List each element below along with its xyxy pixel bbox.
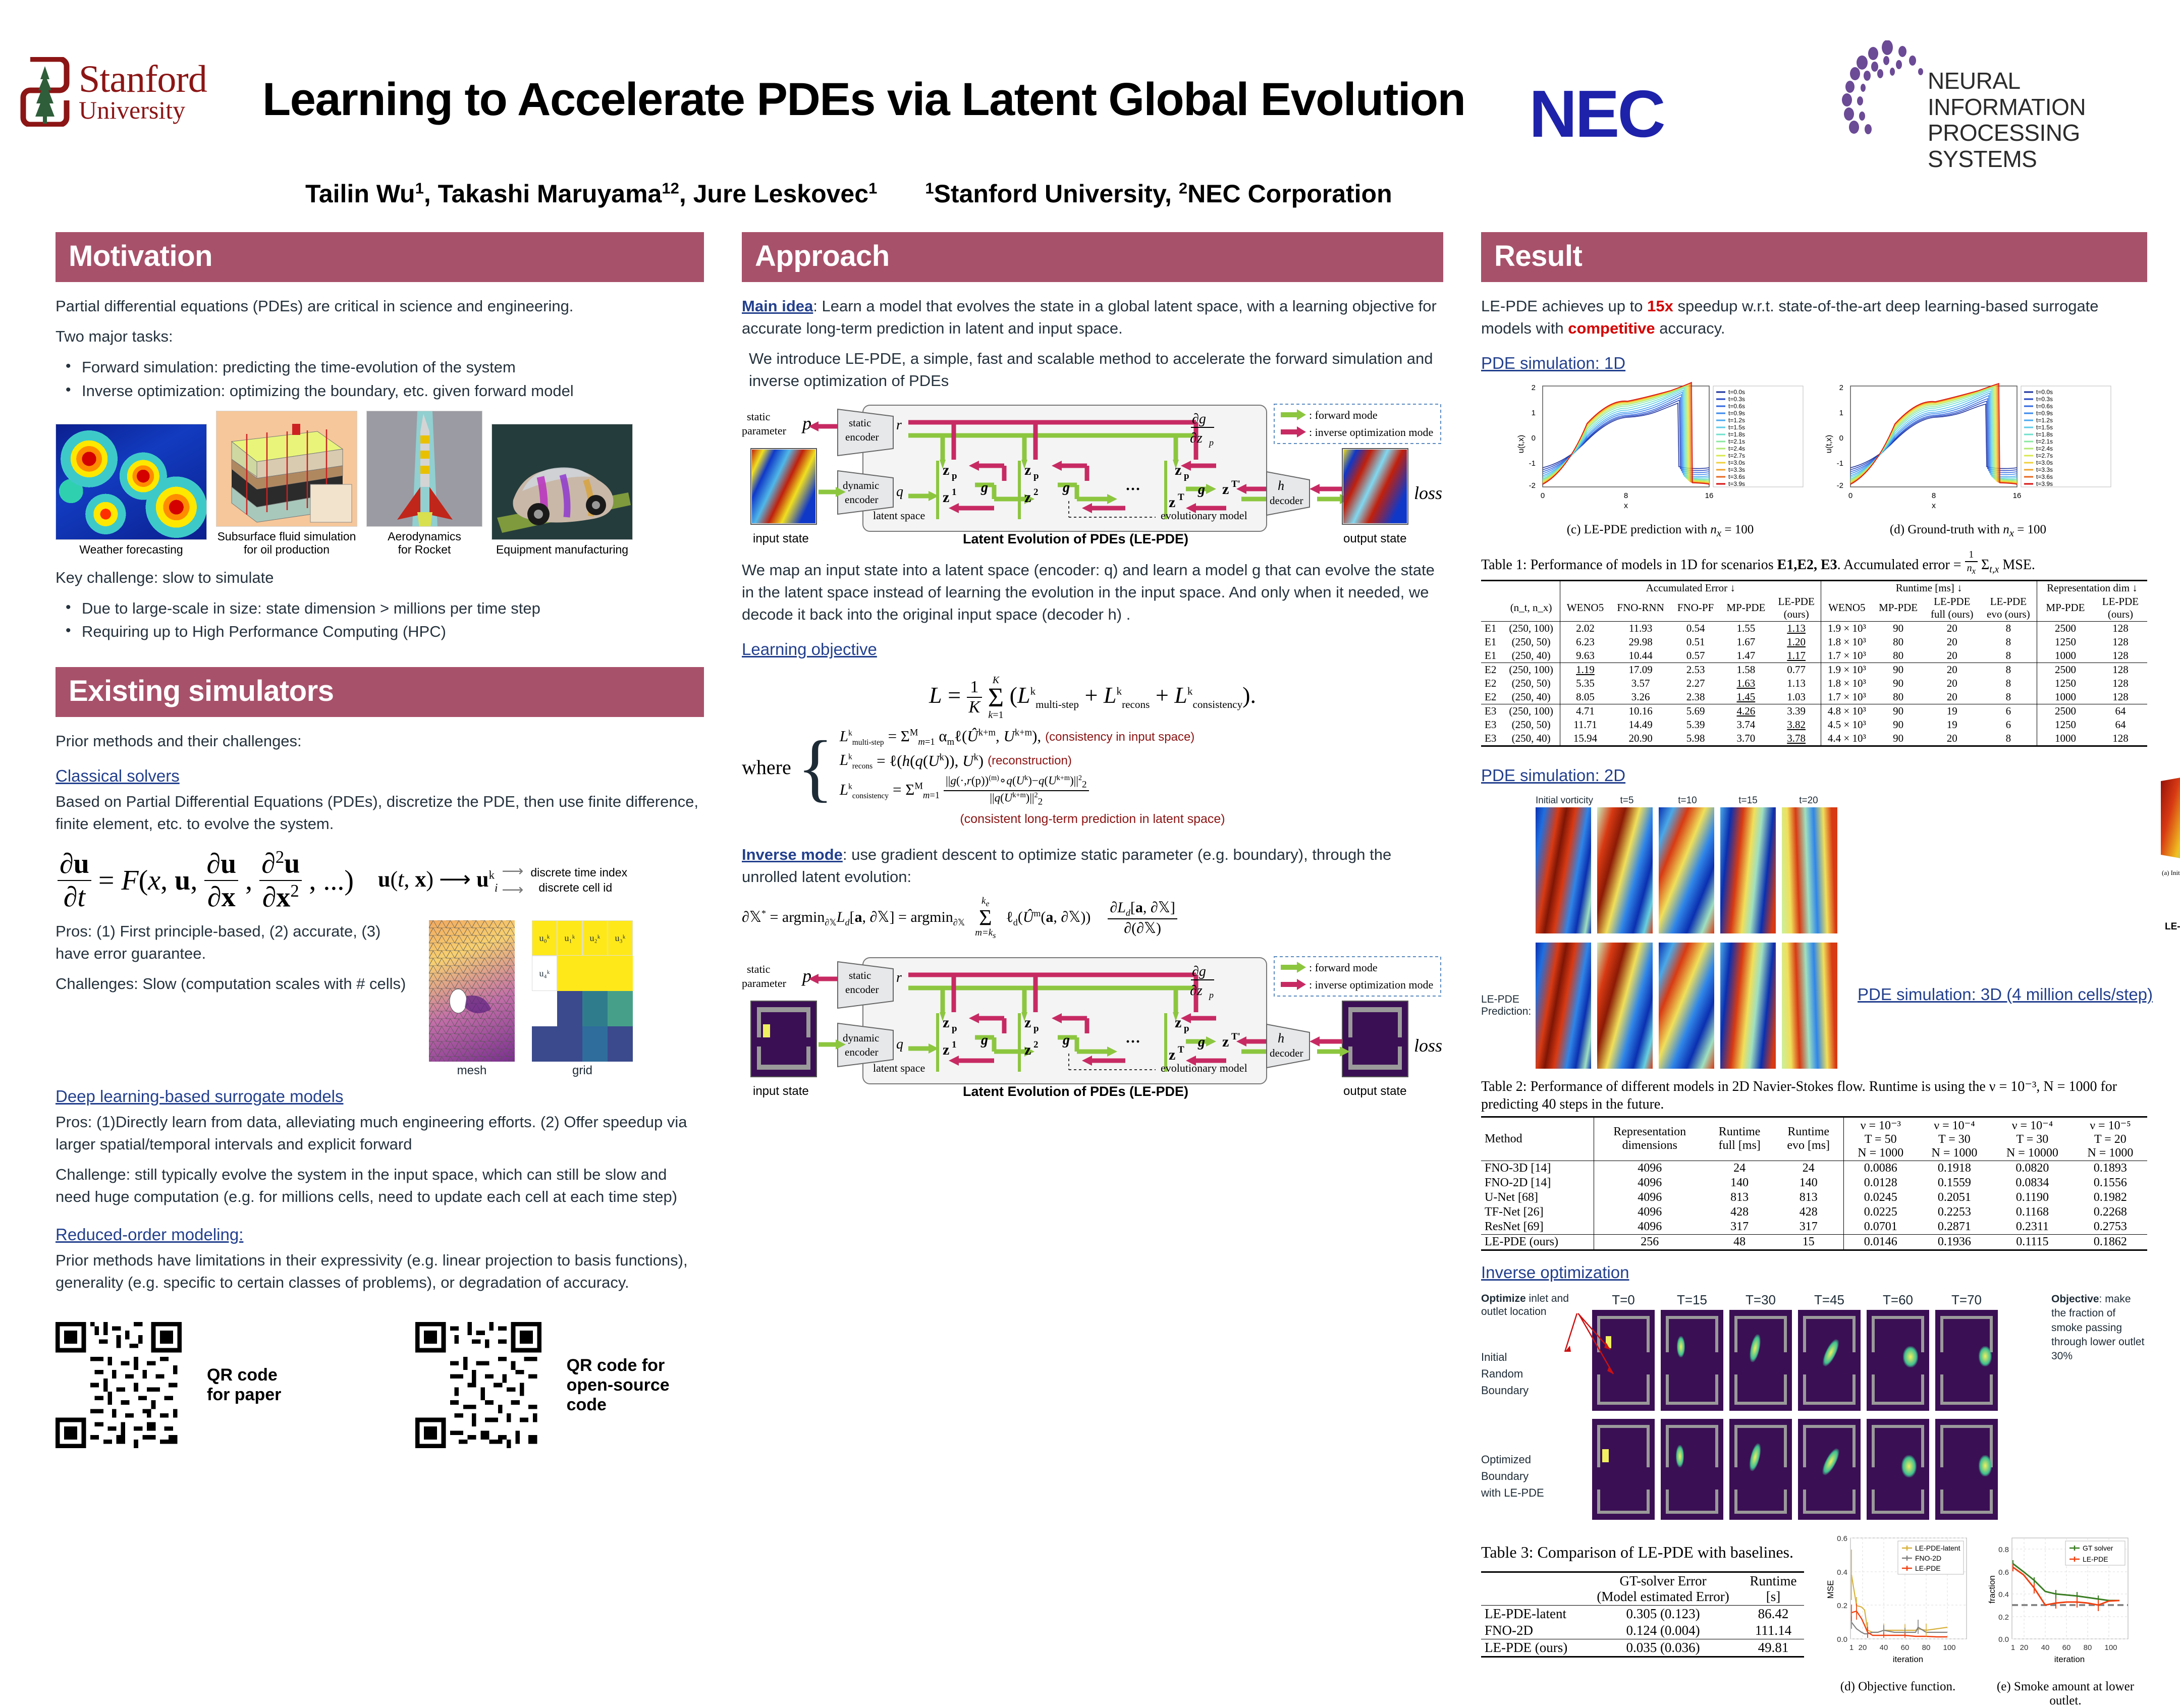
table-row: E3(250, 50)11.7114.495.393.743.824.5 × 1… [1481, 718, 2147, 732]
result-headline: LE-PDE achieves up to 15x speedup w.r.t.… [1481, 295, 2147, 340]
image-caption: Aerodynamics for Rocket [366, 530, 482, 557]
svg-text:u(t,x): u(t,x) [1825, 435, 1833, 453]
table-cell: 20 [1924, 732, 1980, 746]
table-cell: 128 [2094, 677, 2147, 690]
svg-text:1: 1 [952, 487, 957, 498]
table-row: E3(250, 40)15.9420.905.983.703.784.4 × 1… [1481, 732, 2147, 746]
svg-text:Latent Evolution of PDEs (LE-P: Latent Evolution of PDEs (LE-PDE) [963, 531, 1188, 546]
table-cell: 128 [2094, 635, 2147, 649]
subsection-link-pde-simulation-3d[interactable]: PDE simulation: 3D (4 million cells/step… [1858, 985, 2153, 1004]
aerodynamics-rocket-image [366, 411, 482, 527]
svg-text:8: 8 [1932, 491, 1936, 500]
scenario-cell: E1 [1481, 621, 1502, 635]
col-header: (n_t, n_x) [1502, 595, 1560, 622]
grid-illustration: u₀ᵏ u₁ᵏ u₂ᵏ u₃ᵏ u₄ᵏ [532, 920, 633, 1062]
approach-inverse-mode: Inverse mode: use gradient descent to op… [742, 844, 1443, 888]
table-cell: 0.1115 [1991, 1234, 2074, 1250]
chart-e-caption: (e) Smoke amount at lower outlet. [1984, 1680, 2147, 1708]
subsection-link-classical-solvers[interactable]: Classical solvers [56, 766, 180, 786]
svg-text:p: p [1208, 990, 1214, 1000]
list-item: Forward simulation: predicting the time-… [56, 356, 704, 379]
table-cell: 0.2311 [1991, 1220, 2074, 1235]
svg-text:2: 2 [1839, 383, 1843, 392]
scenario-cell: E3 [1481, 718, 1502, 732]
table-cell: 17.09 [1610, 663, 1671, 677]
stanford-subwordmark: University [79, 97, 207, 123]
dims-cell: (250, 50) [1502, 677, 1560, 690]
table-cell: 0.2051 [1918, 1190, 1991, 1205]
svg-text:t=3.0s: t=3.0s [2036, 459, 2053, 466]
table-cell: 0.1559 [1918, 1176, 1991, 1190]
time-label: T=45 [1798, 1292, 1861, 1308]
table-row: LE-PDE (ours)25648150.01460.19360.11150.… [1481, 1234, 2147, 1250]
column-right: Result LE-PDE achieves up to 15x speedup… [1481, 232, 2147, 1708]
subsection-link-pde-simulation-2d[interactable]: PDE simulation: 2D [1481, 766, 1625, 785]
table-cell: 2500 [2037, 663, 2094, 677]
table-cell: 6 [1980, 718, 2037, 732]
table-cell: 8 [1980, 690, 2037, 704]
table-row: E2(250, 40)8.053.262.381.451.031.7 × 10³… [1481, 690, 2147, 704]
table-row: FNO-2D0.124 (0.004)111.14 [1481, 1622, 1804, 1639]
svg-text:z: z [1222, 481, 1229, 498]
table2-caption: Table 2: Performance of different models… [1481, 1078, 2147, 1113]
svg-text:z: z [1024, 489, 1031, 506]
col-header: LE-PDE (ours) [1772, 595, 1821, 622]
smoke-frame [1729, 1419, 1792, 1520]
section-header-approach: Approach [742, 232, 1443, 282]
smoke-frame [1867, 1310, 1929, 1411]
table1-body: E1(250, 100)2.0211.930.541.551.131.9 × 1… [1481, 621, 2147, 746]
col-header: MP-PDE [2037, 595, 2094, 622]
table-cell: 8 [1980, 663, 2037, 677]
table-cell: 1250 [2037, 718, 2094, 732]
table-cell: 11.93 [1610, 621, 1671, 635]
sim1d-caption-d: (d) Ground-truth with nx = 100 [1819, 523, 2117, 539]
annotation-recons: (reconstruction) [988, 754, 1072, 768]
sim2d-col-label: t=20 [1781, 795, 1836, 806]
col-header: LE-PDE full (ours) [1924, 595, 1980, 622]
table-cell: 3.78 [1772, 732, 1821, 746]
table-row: LE-PDE (ours)0.035 (0.036)49.81 [1481, 1639, 1804, 1657]
svg-text:p: p [1184, 471, 1189, 481]
svg-text:T: T [1178, 1044, 1184, 1055]
table-cell: 0.2268 [2074, 1205, 2147, 1220]
svg-text:evolutionary model: evolutionary model [1161, 1062, 1247, 1074]
smoke-frame [1592, 1310, 1655, 1411]
table-cell: 19 [1924, 704, 1980, 718]
col-header: FNO-RNN [1610, 595, 1671, 622]
svg-text:g: g [980, 480, 988, 495]
table-cell: 0.2871 [1918, 1220, 1991, 1235]
svg-text:t=2.1s: t=2.1s [1728, 438, 1745, 445]
svg-text:: forward mode: : forward mode [1309, 409, 1378, 421]
neurips-dots-icon [1827, 40, 1933, 136]
sim3d-figure: (a) Initial condition at t = 0 (c) Groun… [2155, 763, 2180, 1000]
col-header: MP-PDE [1872, 595, 1924, 622]
table1-performance-1d: Accumulated Error ↓ Runtime [ms] ↓ Repre… [1481, 580, 2147, 747]
loss-term-consistency: Lkconsistency = ΣMm=1 ||g(·,r(p))(m)∘q(U… [840, 774, 1195, 808]
neurips-logo: NEURAL INFORMATION PROCESSING SYSTEMS [1827, 40, 2150, 136]
table-cell: 90 [1872, 677, 1924, 690]
svg-text:iteration: iteration [1893, 1655, 1923, 1664]
motivation-challenge-header: Key challenge: slow to simulate [56, 567, 704, 589]
table-cell: 8 [1980, 677, 2037, 690]
table-cell: 6 [1980, 704, 2037, 718]
error-cell: 0.124 (0.004) [1584, 1622, 1742, 1639]
inverse-row2-label: Optimized Boundary with LE-PDE [1481, 1451, 1587, 1501]
method-cell: TF-Net [26] [1481, 1205, 1594, 1220]
svg-text:t=2.4s: t=2.4s [1728, 445, 1745, 452]
table-cell: 1.45 [1720, 690, 1772, 704]
svg-text:1: 1 [1532, 409, 1536, 417]
pde-equation: ∂u∂t = F(x, u, ∂u∂x, ∂2u∂x2 , ...) u(t, … [58, 847, 704, 913]
svg-text:40: 40 [1880, 1643, 1888, 1652]
loss-terms-block: where { Lkmulti-step = ΣMm=1 αmℓ(Ûk+m, U… [742, 727, 1443, 808]
table-cell: 1.13 [1772, 621, 1821, 635]
table-cell: 128 [2094, 690, 2147, 704]
svg-text:x: x [1932, 502, 1936, 510]
table-cell: 20 [1924, 635, 1980, 649]
table-header-row: GT-solver Error (Model estimated Error) … [1481, 1572, 1804, 1605]
competitive-badge: competitive [1568, 319, 1655, 337]
svg-text:z: z [1024, 462, 1031, 478]
legend-label: LE-PDE-latent [1915, 1544, 1960, 1552]
subsection-link-pde-simulation-1d[interactable]: PDE simulation: 1D [1481, 354, 1625, 373]
table-cell: 3.39 [1772, 704, 1821, 718]
svg-text:g: g [1197, 1034, 1205, 1050]
svg-text:t=0.6s: t=0.6s [2036, 403, 2053, 410]
dims-cell: (250, 100) [1502, 704, 1560, 718]
svg-text:z: z [943, 1041, 949, 1058]
svg-text:p: p [1033, 471, 1039, 481]
table-cell: 1.67 [1720, 635, 1772, 649]
svg-text:0.2: 0.2 [1998, 1613, 2009, 1622]
svg-text:: inverse optimization mode: : inverse optimization mode [1309, 978, 1433, 991]
dims-cell: (250, 40) [1502, 649, 1560, 663]
col-header: Runtime full [ms] [1705, 1117, 1774, 1161]
table-header-row: (n_t, n_x) WENO5 FNO-RNN FNO-PF MP-PDE L… [1481, 595, 2147, 622]
subsection-link-learning-objective[interactable]: Learning objective [742, 640, 877, 659]
table-cell: 20 [1924, 621, 1980, 635]
svg-text:0.0: 0.0 [1837, 1635, 1847, 1644]
chart-objective-function: 0.00.20.40.6 12040 6080100 iteration MSE [1822, 1533, 1974, 1708]
svg-text:2: 2 [1033, 1039, 1039, 1050]
svg-text:0.0: 0.0 [1998, 1635, 2009, 1644]
svg-text:60: 60 [2062, 1643, 2071, 1652]
subsection-link-inverse-optimization[interactable]: Inverse optimization [1481, 1263, 1629, 1282]
application-image-strip: Weather forecasting [56, 411, 704, 557]
svg-text:t=0.9s: t=0.9s [2036, 410, 2053, 417]
sim1d-chart-prediction: 2 1 0 -1 -2 0 8 16 x u(t,x) [1511, 381, 1809, 539]
table-row: E1(250, 100)2.0211.930.541.551.131.9 × 1… [1481, 621, 2147, 635]
svg-text:static: static [849, 969, 871, 981]
svg-text:z: z [1175, 1014, 1181, 1031]
svg-text:8: 8 [1624, 491, 1628, 500]
time-label: T=30 [1729, 1292, 1792, 1308]
svg-text:1: 1 [2011, 1643, 2015, 1652]
table-cell: 14.49 [1610, 718, 1671, 732]
loss-equation-main: L = 1K K Σ k=1 (Lkmulti-step + Lkrecons … [742, 675, 1443, 720]
svg-text:latent space: latent space [873, 509, 925, 522]
author-line: Tailin Wu1, Takashi Maruyama12, Jure Les… [305, 179, 1392, 208]
table-cell: 1250 [2037, 677, 2094, 690]
svg-text:t=1.8s: t=1.8s [2036, 431, 2053, 438]
annotation-consistency-note: (consistent long-term prediction in late… [742, 812, 1443, 827]
sim1d-chart-groundtruth: 2 1 0 -1 -2 0 8 16 x u(t,x) [1819, 381, 2117, 539]
table-cell: 140 [1774, 1176, 1843, 1190]
neurips-line-1: NEURAL INFORMATION [1928, 68, 2150, 120]
table-cell: 1000 [2037, 732, 2094, 746]
table-cell: 29.98 [1610, 635, 1671, 649]
table-cell: 4096 [1594, 1220, 1706, 1235]
table-cell: 1250 [2037, 635, 2094, 649]
table-cell: 1.7 × 10³ [1821, 690, 1873, 704]
chart-d-caption: (d) Objective function. [1822, 1680, 1974, 1694]
svg-text:t=3.9s: t=3.9s [2036, 480, 2053, 487]
grid-cell: u₁ᵏ [557, 920, 582, 956]
table-cell: 0.51 [1671, 635, 1720, 649]
svg-text:-2: -2 [1837, 481, 1843, 490]
main-idea-link[interactable]: Main idea [742, 297, 813, 315]
sim2d-col-label: t=15 [1720, 795, 1776, 806]
table-cell: 8 [1980, 621, 2037, 635]
svg-text:x: x [1624, 502, 1628, 510]
grid-cell: u₀ᵏ [532, 920, 557, 956]
table3-caption: Table 3: Comparison of LE-PDE with basel… [1481, 1542, 1804, 1562]
approach-main-idea: Main idea: Learn a model that evolves th… [742, 295, 1443, 340]
table-cell: 1.13 [1772, 677, 1821, 690]
svg-text:80: 80 [2084, 1643, 2092, 1652]
svg-text:: inverse optimization mode: : inverse optimization mode [1309, 426, 1433, 438]
error-cell: 0.035 (0.036) [1584, 1639, 1742, 1657]
method-cell: FNO-2D [14] [1481, 1176, 1594, 1190]
table-row: E3(250, 100)4.7110.165.694.263.394.8 × 1… [1481, 704, 2147, 718]
dims-cell: (250, 50) [1502, 718, 1560, 732]
method-cell: FNO-3D [14] [1481, 1161, 1594, 1176]
table-cell: 1.9 × 10³ [1821, 663, 1873, 677]
vorticity-tile [1720, 807, 1776, 933]
svg-text:q: q [896, 484, 903, 500]
table-cell: 1.8 × 10³ [1821, 677, 1873, 690]
svg-text:t=0.3s: t=0.3s [1728, 396, 1745, 403]
table-cell: 24 [1705, 1161, 1774, 1176]
table-cell: 4096 [1594, 1176, 1706, 1190]
table-cell: 10.16 [1610, 704, 1671, 718]
application-card-weather: Weather forecasting [56, 424, 207, 556]
table-cell: 317 [1705, 1220, 1774, 1235]
svg-text:∂z: ∂z [1190, 430, 1203, 446]
svg-text:z: z [943, 489, 949, 506]
table-cell: 48 [1705, 1234, 1774, 1250]
table-cell: 3.70 [1720, 732, 1772, 746]
method-cell: LE-PDE (ours) [1481, 1234, 1594, 1250]
table-cell: 2.38 [1671, 690, 1720, 704]
svg-text:t=1.8s: t=1.8s [1728, 431, 1745, 438]
motivation-tasks-header: Two major tasks: [56, 325, 704, 348]
stanford-tree-icon [20, 57, 70, 127]
page-title: Learning to Accelerate PDEs via Latent G… [262, 73, 1474, 126]
table-cell: 0.57 [1671, 649, 1720, 663]
table-cell: 1.47 [1720, 649, 1772, 663]
svg-text:static: static [747, 410, 771, 423]
qr-code-open-source[interactable] [415, 1322, 541, 1448]
svg-text:latent space: latent space [873, 1062, 925, 1074]
svg-text:fraction: fraction [1987, 1575, 1997, 1604]
svg-text:t=1.2s: t=1.2s [2036, 417, 2053, 424]
table-cell: 128 [2094, 649, 2147, 663]
table-cell: 1.7 × 10³ [1821, 649, 1873, 663]
table-cell: 0.77 [1772, 663, 1821, 677]
table-cell: 256 [1594, 1234, 1706, 1250]
col-header: ν = 10⁻⁴ T = 30 N = 1000 [1918, 1117, 1991, 1161]
svg-text:encoder: encoder [845, 983, 879, 996]
table-cell: 1000 [2037, 649, 2094, 663]
svg-text:16: 16 [2013, 491, 2022, 500]
image-caption: Equipment manufacturing [492, 543, 633, 556]
table-cell: 64 [2094, 718, 2147, 732]
smoke-frame [1867, 1419, 1929, 1520]
svg-text:1: 1 [952, 1039, 957, 1050]
grid-cell: u₃ᵏ [608, 920, 633, 956]
table-cell: 19 [1924, 718, 1980, 732]
svg-text:0.8: 0.8 [1998, 1546, 2009, 1554]
table-cell: 20 [1924, 690, 1980, 704]
table-cell: 813 [1705, 1190, 1774, 1205]
table-cell: 90 [1872, 704, 1924, 718]
table-cell: 80 [1872, 635, 1924, 649]
table-cell: 10.44 [1610, 649, 1671, 663]
table-cell: 2.27 [1671, 677, 1720, 690]
approach-intro: We introduce LE-PDE, a simple, fast and … [749, 348, 1443, 392]
svg-text:z: z [1175, 462, 1181, 478]
discrete-index-note: discrete time index discrete cell id [530, 865, 627, 896]
svg-text:loss: loss [1414, 483, 1442, 503]
svg-text:z: z [1169, 1046, 1175, 1063]
subsection-link-deep-learning-surrogates[interactable]: Deep learning-based surrogate models [56, 1087, 344, 1106]
col-header: Representation dimensions [1594, 1117, 1706, 1161]
classical-challenges: Challenges: Slow (computation scales wit… [56, 973, 419, 995]
application-card-equipment: Equipment manufacturing [492, 424, 633, 556]
table-cell: 4.71 [1560, 704, 1610, 718]
col-header: GT-solver Error (Model estimated Error) [1584, 1572, 1742, 1605]
svg-text:MSE: MSE [1826, 1580, 1835, 1599]
svg-text:1: 1 [1849, 1643, 1854, 1652]
svg-text:t=3.3s: t=3.3s [1728, 466, 1745, 473]
optimize-annotation: Optimize inlet and outlet location [1481, 1292, 1587, 1319]
table-cell: 90 [1872, 663, 1924, 677]
svg-text:u(t,x): u(t,x) [1517, 435, 1525, 453]
svg-text:t=2.4s: t=2.4s [2036, 445, 2053, 452]
svg-text:0: 0 [1839, 434, 1843, 443]
svg-text:t=2.7s: t=2.7s [2036, 452, 2053, 459]
svg-text:···: ··· [1125, 1033, 1140, 1050]
svg-text:t=1.2s: t=1.2s [1728, 417, 1745, 424]
svg-text:h: h [1278, 478, 1284, 493]
legend-label: GT solver [2083, 1544, 2113, 1552]
neurips-line-2: PROCESSING SYSTEMS [1928, 120, 2150, 172]
dims-cell: (250, 40) [1502, 690, 1560, 704]
table-cell: 0.0146 [1843, 1234, 1918, 1250]
table3-and-charts-row: Table 3: Comparison of LE-PDE with basel… [1481, 1533, 2147, 1708]
speedup-badge: 15x [1647, 297, 1673, 315]
table-cell: 0.0820 [1991, 1161, 2074, 1176]
table-row: TF-Net [26]40964284280.02250.22530.11680… [1481, 1205, 2147, 1220]
table-cell: 0.0245 [1843, 1190, 1918, 1205]
sim1d-caption-c: (c) LE-PDE prediction with nx = 100 [1511, 523, 1809, 539]
section-header-existing-simulators: Existing simulators [56, 667, 704, 717]
table-cell: 0.2753 [2074, 1220, 2147, 1235]
table-cell: 4.8 × 10³ [1821, 704, 1873, 718]
sim2d-groundtruth-row [1481, 807, 1837, 933]
approach-mapping-text: We map an input state into a latent spac… [742, 559, 1443, 626]
equipment-manufacturing-image [492, 424, 633, 540]
grid-cell: u₂ᵏ [582, 920, 608, 956]
time-label: T=15 [1661, 1292, 1723, 1308]
runtime-cell: 86.42 [1742, 1605, 1804, 1622]
poster-header: Stanford University Learning to Accelera… [0, 0, 2180, 212]
svg-text:encoder: encoder [845, 493, 878, 506]
svg-text:40: 40 [2041, 1643, 2050, 1652]
subsection-link-reduced-order-modeling[interactable]: Reduced-order modeling: [56, 1225, 243, 1244]
table-cell: 0.0701 [1843, 1220, 1918, 1235]
svg-text:0.2: 0.2 [1837, 1602, 1847, 1610]
svg-text:z: z [1169, 494, 1175, 511]
svg-text:t=0.6s: t=0.6s [1728, 403, 1745, 410]
deep-learning-pros: Pros: (1)Directly learn from data, allev… [56, 1111, 704, 1155]
svg-text:p: p [801, 413, 811, 433]
group-header-runtime: Runtime [ms] ↓ [1821, 580, 2037, 595]
table-cell: 8 [1980, 732, 2037, 746]
dims-cell: (250, 50) [1502, 635, 1560, 649]
inverse-row1-label: Initial Random Boundary [1481, 1349, 1587, 1399]
runtime-cell: 49.81 [1742, 1639, 1804, 1657]
loss-term-recons: Lkrecons = ℓ(h(q(Uk)), Uk) (reconstructi… [840, 751, 1195, 771]
col-header: Runtime [s] [1742, 1572, 1804, 1605]
inverse-mode-link[interactable]: Inverse mode [742, 846, 843, 863]
affiliations: 1Stanford University, 2NEC Corporation [925, 180, 1392, 208]
objective-annotation: Objective: make the fraction of smoke pa… [2051, 1292, 2147, 1364]
svg-text:static: static [849, 417, 871, 429]
col-header: FNO-PF [1671, 595, 1720, 622]
chart-smoke-amount: 0.00.20.4 0.60.8 12040 6080100 iteration… [1984, 1533, 2147, 1708]
table-cell: 2.02 [1560, 621, 1610, 635]
svg-text:p: p [952, 1023, 957, 1034]
method-cell: ResNet [69] [1481, 1220, 1594, 1235]
qr-code-paper[interactable] [56, 1322, 182, 1448]
svg-text:p: p [952, 471, 957, 481]
table-cell: 4.5 × 10³ [1821, 718, 1873, 732]
table-cell: 1000 [2037, 690, 2094, 704]
svg-text:100: 100 [2104, 1643, 2117, 1652]
table1-caption: Table 1: Performance of models in 1D for… [1481, 548, 2147, 577]
svg-text:16: 16 [1705, 491, 1714, 500]
method-cell: LE-PDE (ours) [1481, 1639, 1584, 1657]
svg-text:20: 20 [2020, 1643, 2029, 1652]
table-cell: 9.63 [1560, 649, 1610, 663]
table-cell: 813 [1774, 1190, 1843, 1205]
table3-comparison-baselines: GT-solver Error (Model estimated Error) … [1481, 1571, 1804, 1658]
table-cell: 0.1862 [2074, 1234, 2147, 1250]
grid-cell: u₄ᵏ [532, 956, 557, 991]
svg-text:-1: -1 [1837, 459, 1843, 468]
svg-text:t=0.3s: t=0.3s [2036, 396, 2053, 403]
scenario-cell: E2 [1481, 677, 1502, 690]
vorticity-tile [1536, 807, 1591, 933]
table-cell: 1.58 [1720, 663, 1772, 677]
table-cell: 4096 [1594, 1205, 1706, 1220]
motivation-task-list: Forward simulation: predicting the time-… [56, 356, 704, 403]
table-cell: 0.1556 [2074, 1176, 2147, 1190]
